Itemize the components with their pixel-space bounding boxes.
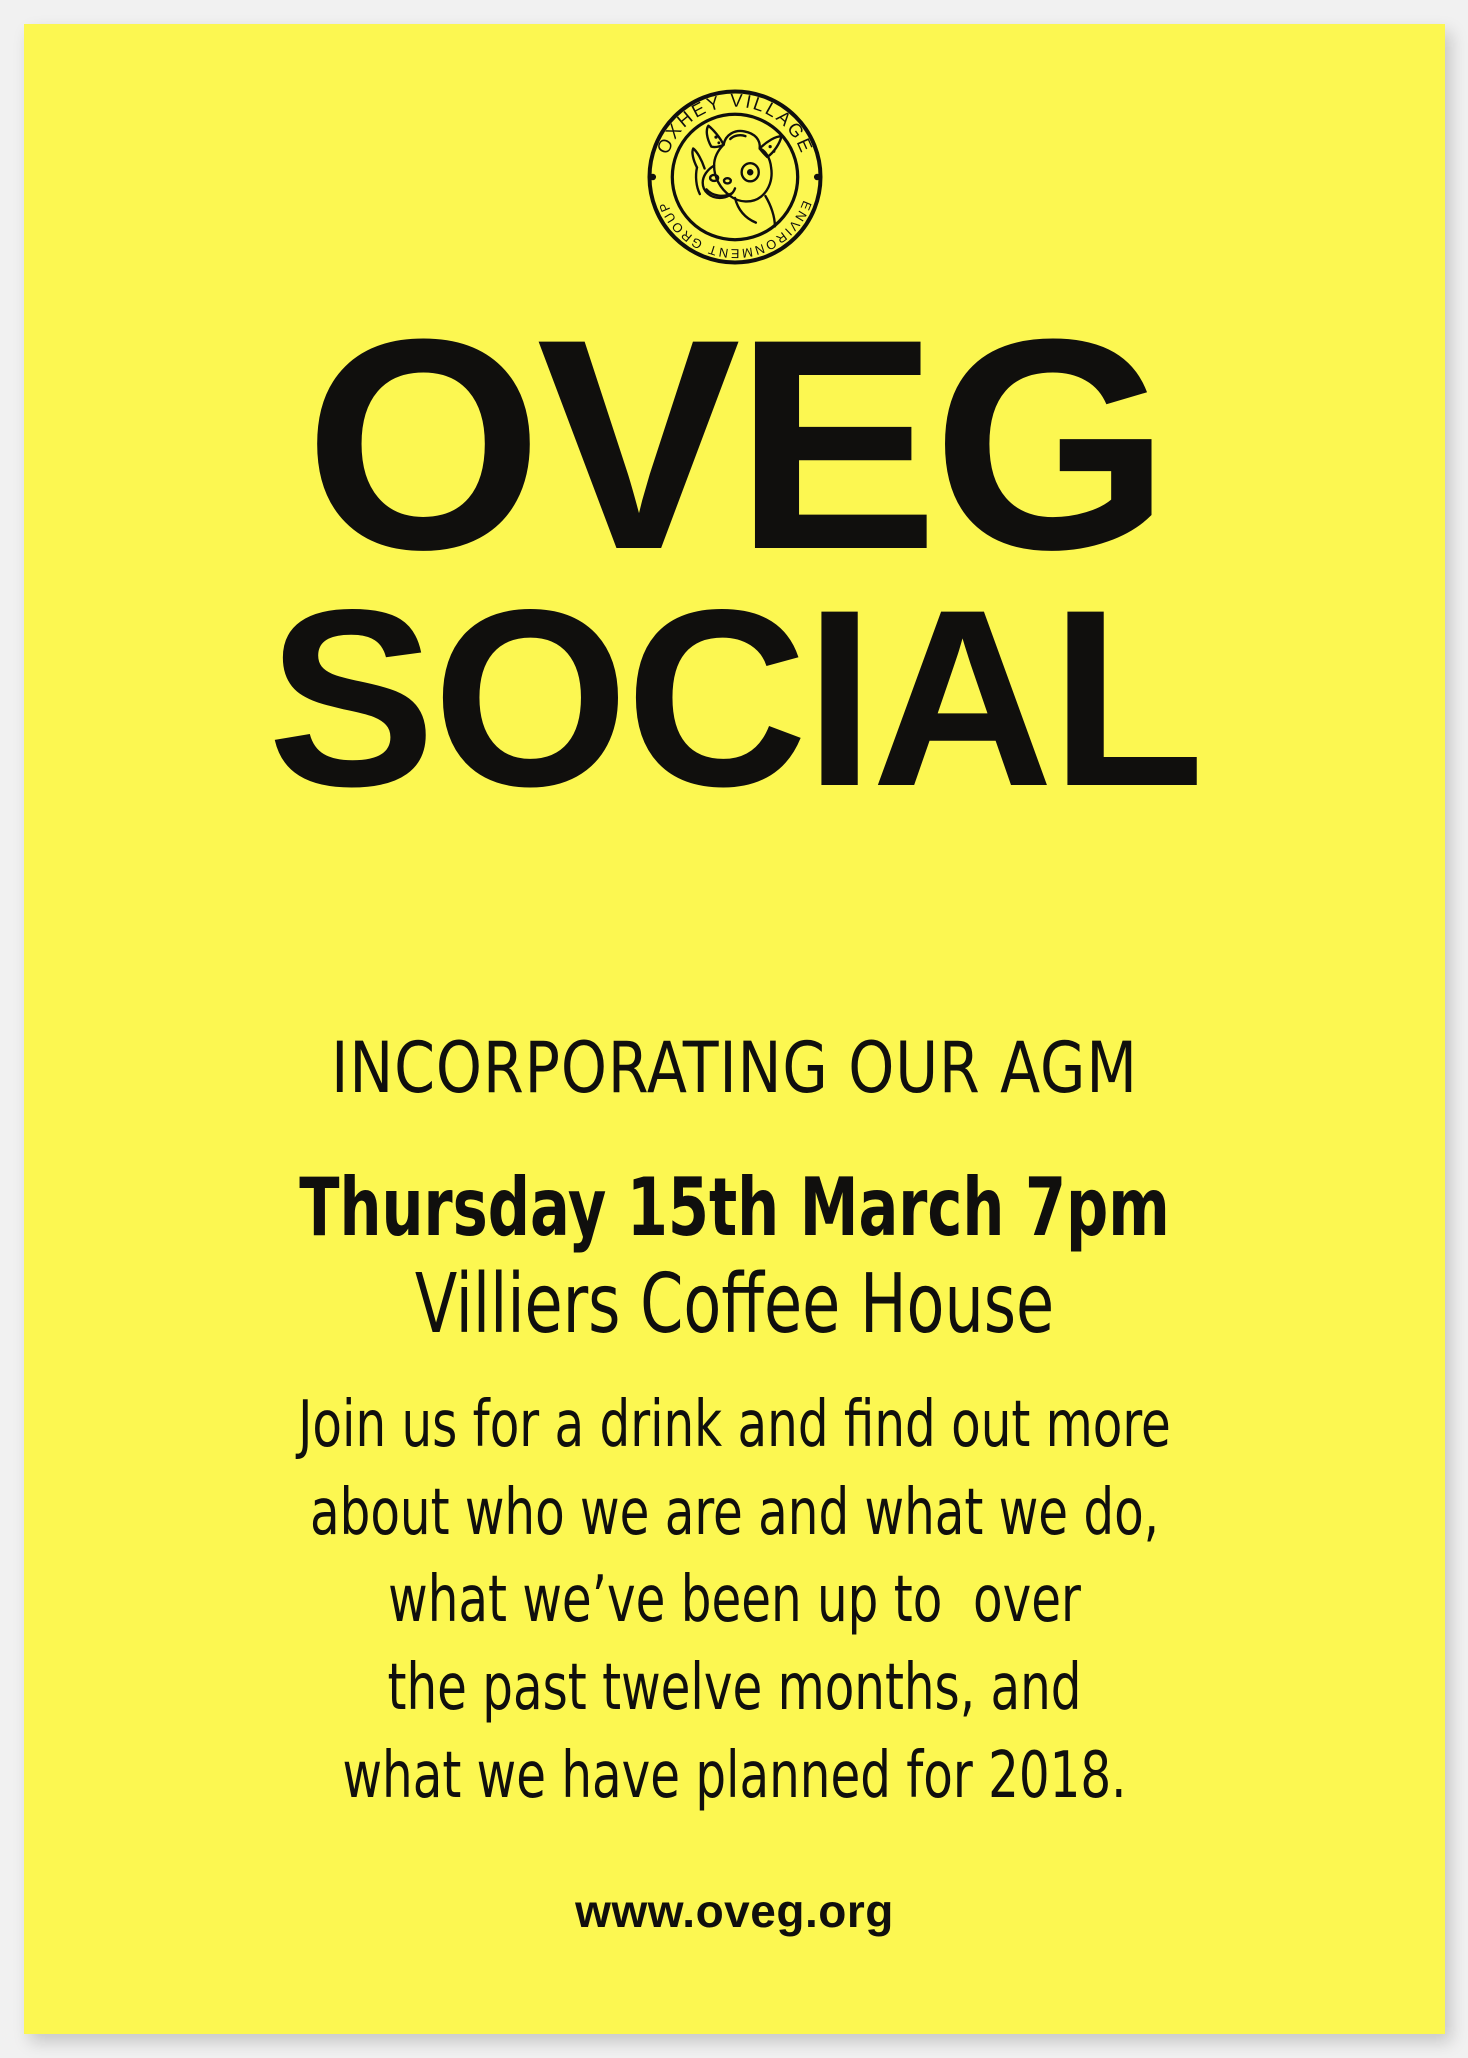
description-line: Join us for a drink and find out more [138, 1382, 1332, 1470]
logo-container: OXHEY VILLAGE ENVIRONMENT GROUP [24, 82, 1445, 272]
event-venue: Villiers Coffee House [138, 1257, 1332, 1352]
page-title: OVEG [24, 302, 1445, 587]
poster-sheet: OXHEY VILLAGE ENVIRONMENT GROUP [24, 24, 1445, 2034]
page-title-secondary: SOCIAL [24, 579, 1445, 818]
event-description: Join us for a drink and find out more ab… [138, 1382, 1332, 1820]
description-line: what we have planned for 2018. [138, 1733, 1332, 1821]
website-url[interactable]: www.oveg.org [24, 1884, 1445, 1938]
svg-text:OXHEY VILLAGE: OXHEY VILLAGE [652, 90, 818, 157]
oveg-roundel-icon: OXHEY VILLAGE ENVIRONMENT GROUP [640, 82, 830, 272]
poster-stage: OXHEY VILLAGE ENVIRONMENT GROUP [0, 0, 1468, 2058]
page-subtitle: INCORPORATING OUR AGM [74, 1027, 1396, 1109]
description-line: about who we are and what we do, [138, 1470, 1332, 1558]
event-date: Thursday 15th March 7pm [152, 1161, 1317, 1254]
description-line: what we’ve been up to over [138, 1557, 1332, 1645]
description-line: the past twelve months, and [138, 1645, 1332, 1733]
